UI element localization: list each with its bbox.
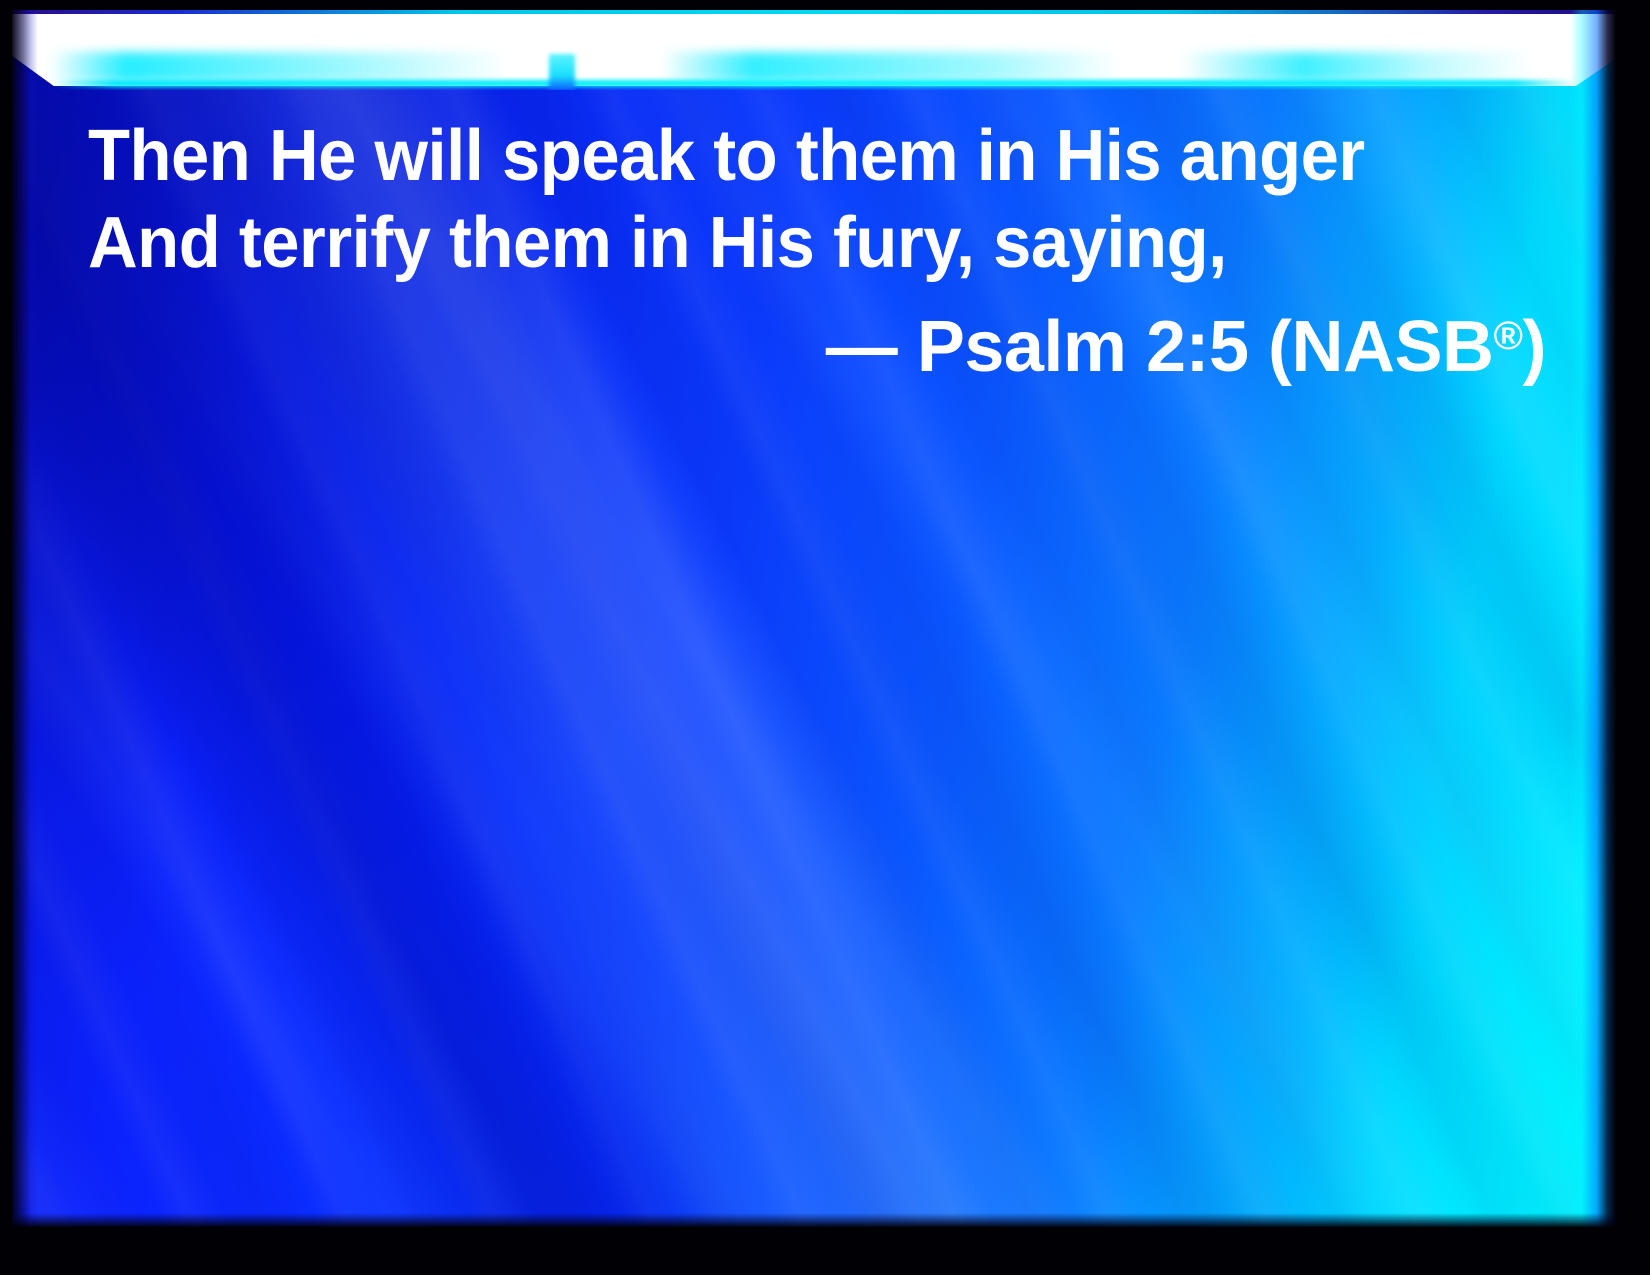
- banner-cyan-notch: [549, 54, 575, 90]
- slide-canvas: Then He will speak to them in His anger …: [0, 0, 1650, 1275]
- quote-block: Then He will speak to them in His anger …: [88, 113, 1558, 391]
- citation-em-dash: —: [826, 307, 898, 387]
- slide-artwork: Then He will speak to them in His anger …: [12, 10, 1616, 1227]
- citation-translation-close: ): [1523, 307, 1546, 387]
- citation-translation-open: (NASB: [1268, 307, 1494, 387]
- banner-cyan-edge: [54, 80, 1576, 87]
- quote-line-2: And terrify them in His fury, saying,: [88, 200, 1492, 287]
- banner-cyan-underglow: [50, 52, 1577, 82]
- scripture-citation: — Psalm 2:5 (NASB®): [88, 293, 1558, 391]
- citation-reference: Psalm 2:5: [917, 307, 1249, 387]
- registered-trademark-icon: ®: [1494, 314, 1523, 358]
- quote-line-1: Then He will speak to them in His anger: [88, 113, 1492, 200]
- top-banner: [12, 10, 1616, 90]
